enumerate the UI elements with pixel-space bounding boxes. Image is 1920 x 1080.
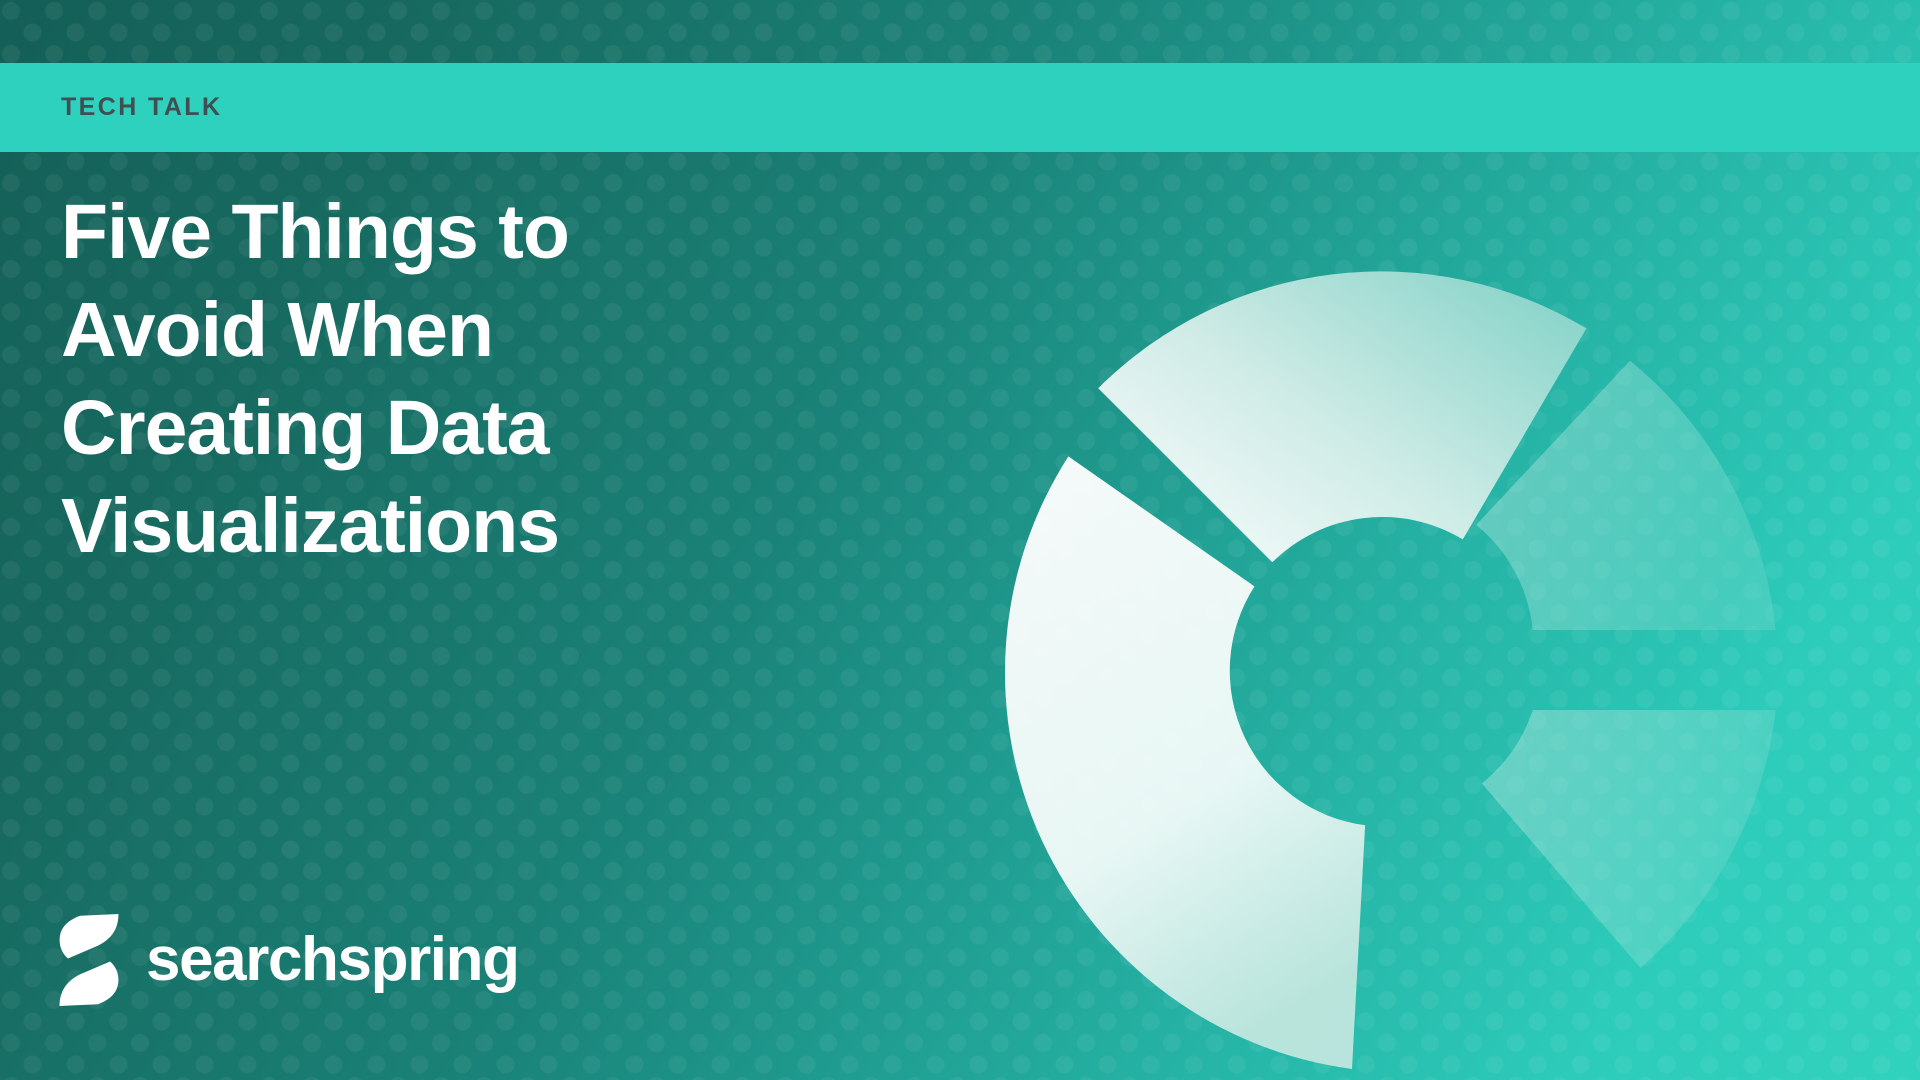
- donut-slice-b: [1476, 361, 1775, 630]
- eyebrow-banner: TECH TALK: [0, 63, 1920, 152]
- searchspring-s-mark: [58, 912, 120, 1008]
- headline-line-1: Five Things to: [61, 183, 821, 281]
- headline-line-4: Visualizations: [61, 477, 821, 575]
- headline-line-2: Avoid When: [61, 281, 821, 379]
- headline-line-3: Creating Data: [61, 379, 821, 477]
- donut-chart-graphic: [840, 130, 1920, 1080]
- page-title: Five Things to Avoid When Creating Data …: [61, 183, 821, 575]
- donut-slice-c: [1482, 710, 1776, 968]
- logo-wordmark: searchspring: [146, 929, 519, 991]
- slide-canvas: TECH TALK Five Things to Avoid When Crea…: [0, 0, 1920, 1080]
- brand-logo: searchspring: [58, 912, 519, 1008]
- donut-slice-d: [1005, 456, 1365, 1069]
- eyebrow-label: TECH TALK: [61, 93, 222, 122]
- donut-slice-a: [1098, 271, 1586, 562]
